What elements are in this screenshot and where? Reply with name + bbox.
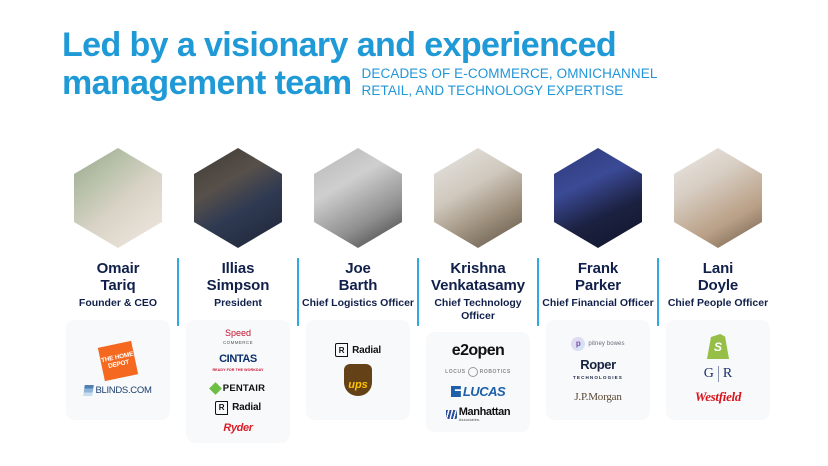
member-last-name: Simpson xyxy=(207,277,270,294)
employer-logo-card: p pitney bowes Roper TECHNOLOGIES J.P.Mo… xyxy=(546,320,650,420)
employer-logo-card: R Radial ups xyxy=(306,320,410,420)
jpmorgan-icon: J.P.Morgan xyxy=(574,391,621,403)
member-title: Chief People Officer xyxy=(668,297,768,310)
jpmorgan-logo-label: J.P.Morgan xyxy=(574,391,621,403)
headline-line-2: management team xyxy=(62,64,352,102)
employer-logo-card: S G R Westfield xyxy=(666,320,770,420)
e2open-logo-label: e2open xyxy=(452,342,504,360)
team-member-card: Lani Doyle Chief People Officer S G R We… xyxy=(658,148,778,420)
member-name: Lani Doyle xyxy=(698,260,738,294)
member-name: Illias Simpson xyxy=(207,260,270,294)
e2open-icon: e2open xyxy=(452,342,504,360)
blinds-com-icon: BLINDS.COM xyxy=(84,385,151,396)
member-title: Chief Technology Officer xyxy=(418,297,538,322)
member-name: Frank Parker xyxy=(575,260,621,294)
pitney-bowes-logo-wrap: p pitney bowes xyxy=(571,337,624,351)
pitney-bowes-mark-icon: p xyxy=(571,337,585,351)
speed-commerce-icon: Speed COMMERCE xyxy=(223,329,253,347)
gr-logo-tag: R xyxy=(723,366,732,382)
home-depot-icon: THE HOME DEPOT xyxy=(101,344,135,378)
member-first-name: Lani xyxy=(698,260,738,277)
team-member-card: Frank Parker Chief Financial Officer p p… xyxy=(538,148,658,420)
pentair-diamond-icon xyxy=(209,382,222,395)
member-title: President xyxy=(214,297,262,310)
member-first-name: Krishna xyxy=(431,260,525,277)
locus-logo-label: LOCUS xyxy=(445,369,466,375)
member-first-name: Omair xyxy=(97,260,140,277)
radial-logo-wrap: R Radial xyxy=(215,401,261,415)
member-title: Chief Logistics Officer xyxy=(302,297,414,310)
subheadline-line-1: DECADES OF E-COMMERCE, OMNICHANNEL xyxy=(362,66,658,83)
team-grid: Omair Tariq Founder & CEO THE HOME DEPOT… xyxy=(58,148,778,443)
lucas-logo-label: LUCAS xyxy=(463,384,505,399)
locus-robotics-icon: LOCUS ROBOTICS xyxy=(445,367,511,377)
westfield-logo-label: Westfield xyxy=(695,389,741,405)
manhattan-logo-wrap: Manhattan Associates. xyxy=(446,406,510,422)
pitney-bowes-icon: p pitney bowes xyxy=(571,337,624,351)
subheadline-line-2: RETAIL, AND TECHNOLOGY EXPERTISE xyxy=(362,83,658,100)
cintas-logo-tag: READY FOR THE WORKDAY xyxy=(212,365,263,376)
radial-mark-icon: R xyxy=(335,343,348,357)
shopify-logo-label: S xyxy=(707,334,729,359)
roper-technologies-icon: Roper TECHNOLOGIES xyxy=(573,358,623,384)
radial-logo-wrap: R Radial xyxy=(335,343,381,357)
radial-logo-label: Radial xyxy=(232,402,261,413)
pentair-icon: PENTAIR xyxy=(211,383,265,394)
member-title: Chief Financial Officer xyxy=(542,297,653,310)
gr-separator-icon xyxy=(718,366,719,382)
radial-mark-icon: R xyxy=(215,401,228,415)
manhattan-text-wrap: Manhattan Associates. xyxy=(459,406,510,422)
headline-line-1: Led by a visionary and experienced xyxy=(62,26,782,64)
employer-logo-card: Speed COMMERCE CINTAS READY FOR THE WORK… xyxy=(186,320,290,443)
roper-logo-label: Roper xyxy=(580,357,616,372)
radial-icon: R Radial xyxy=(335,343,381,357)
ups-icon: ups xyxy=(344,364,372,396)
lucas-icon: LUCAS xyxy=(451,384,505,399)
team-member-card: Krishna Venkatasamy Chief Technology Off… xyxy=(418,148,538,432)
member-last-name: Venkatasamy xyxy=(431,277,525,294)
roper-logo-wrap: Roper TECHNOLOGIES xyxy=(573,358,623,384)
employer-logo-card: e2open LOCUS ROBOTICS LUCAS xyxy=(426,332,530,432)
subheadline: DECADES OF E-COMMERCE, OMNICHANNEL RETAI… xyxy=(362,66,658,102)
team-member-card: Illias Simpson President Speed COMMERCE … xyxy=(178,148,298,443)
blinds-com-logo-wrap: BLINDS.COM xyxy=(84,385,151,396)
roper-logo-tag: TECHNOLOGIES xyxy=(573,371,623,384)
employer-logo-card: THE HOME DEPOT BLINDS.COM xyxy=(66,320,170,420)
shopify-icon: S xyxy=(707,334,729,359)
member-first-name: Frank xyxy=(575,260,621,277)
locus-ring-icon xyxy=(468,367,478,377)
slide-header: Led by a visionary and experienced manag… xyxy=(62,26,782,102)
locus-logo-wrap: LOCUS ROBOTICS xyxy=(445,367,511,377)
gr-icon: G R xyxy=(704,366,732,382)
cintas-logo-wrap: CINTAS READY FOR THE WORKDAY xyxy=(212,354,263,376)
cintas-icon: CINTAS READY FOR THE WORKDAY xyxy=(212,354,263,376)
team-member-card: Omair Tariq Founder & CEO THE HOME DEPOT… xyxy=(58,148,178,420)
member-name: Krishna Venkatasamy xyxy=(431,260,525,294)
pentair-logo-wrap: PENTAIR xyxy=(211,383,265,394)
ryder-logo-label: Ryder xyxy=(223,422,252,434)
member-first-name: Illias xyxy=(207,260,270,277)
portrait-photo xyxy=(314,148,402,248)
pentair-logo-label: PENTAIR xyxy=(223,383,265,394)
radial-icon: R Radial xyxy=(215,401,261,415)
member-last-name: Doyle xyxy=(698,277,738,294)
blinds-com-logo-label: BLINDS.COM xyxy=(95,385,151,396)
blinds-mark-icon xyxy=(84,385,95,396)
speed-logo-label: Speed xyxy=(225,328,251,338)
portrait-photo xyxy=(554,148,642,248)
speed-logo-tag: COMMERCE xyxy=(223,338,253,347)
portrait-photo xyxy=(74,148,162,248)
gr-logo-label: G xyxy=(704,366,714,382)
member-name: Omair Tariq xyxy=(97,260,140,294)
portrait-photo xyxy=(434,148,522,248)
headline-row-2: management team DECADES OF E-COMMERCE, O… xyxy=(62,64,782,102)
home-depot-logo-label: THE HOME DEPOT xyxy=(98,340,138,380)
member-name: Joe Barth xyxy=(339,260,378,294)
lucas-mark-icon xyxy=(451,386,461,397)
member-first-name: Joe xyxy=(339,260,378,277)
locus-logo-tag: ROBOTICS xyxy=(480,369,511,375)
speed-logo-wrap: Speed COMMERCE xyxy=(223,329,253,347)
gr-logo-wrap: G R xyxy=(704,366,732,382)
member-last-name: Parker xyxy=(575,277,621,294)
ryder-icon: Ryder xyxy=(223,422,252,434)
manhattan-bars-icon xyxy=(446,410,457,419)
team-slide: Led by a visionary and experienced manag… xyxy=(0,0,828,466)
westfield-icon: Westfield xyxy=(695,389,741,405)
member-last-name: Tariq xyxy=(97,277,140,294)
pitney-bowes-logo-label: pitney bowes xyxy=(588,341,624,347)
radial-logo-label: Radial xyxy=(352,345,381,356)
manhattan-logo-tag: Associates. xyxy=(459,418,510,422)
portrait-photo xyxy=(194,148,282,248)
cintas-logo-label: CINTAS xyxy=(219,353,257,365)
lucas-logo-wrap: LUCAS xyxy=(451,384,505,399)
member-title: Founder & CEO xyxy=(79,297,157,310)
team-member-card: Joe Barth Chief Logistics Officer R Radi… xyxy=(298,148,418,420)
manhattan-associates-icon: Manhattan Associates. xyxy=(446,406,510,422)
ups-logo-label: ups xyxy=(344,364,372,396)
member-last-name: Barth xyxy=(339,277,378,294)
manhattan-logo-label: Manhattan xyxy=(459,406,510,418)
portrait-photo xyxy=(674,148,762,248)
